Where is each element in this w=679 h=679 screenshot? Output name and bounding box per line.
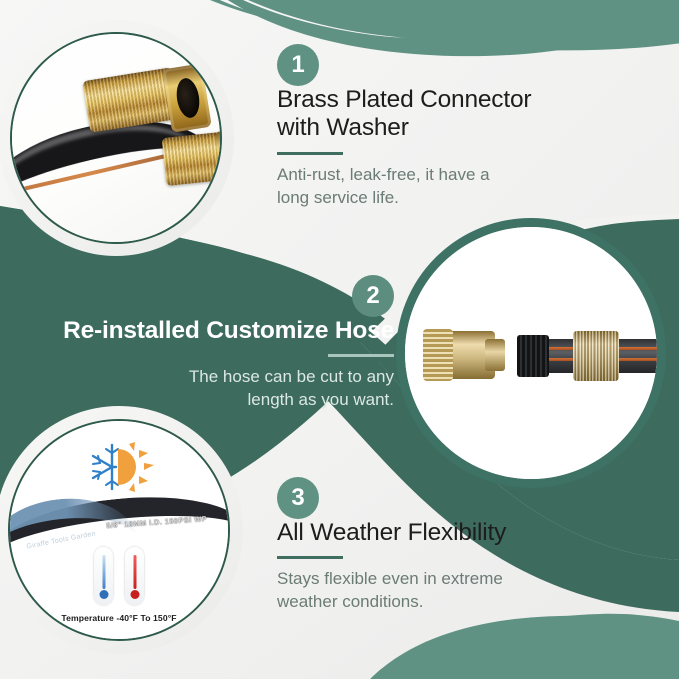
- fitting-nose: [485, 339, 505, 371]
- feature-block-1: 1 Brass Plated Connector with Washer Ant…: [277, 44, 607, 210]
- feature-desc-3: Stays flexible even in extreme weather c…: [277, 568, 607, 614]
- feature-block-2: 2 Re-installed Customize Hose The hose c…: [42, 275, 394, 412]
- feature-desc-2-line-1: The hose can be cut to any: [42, 366, 394, 389]
- thermometer-cold-icon: [94, 547, 113, 605]
- feature-photo-2: [396, 218, 666, 488]
- feature-title-3-line-1: All Weather Flexibility: [277, 519, 607, 547]
- feature-rule-3: [277, 556, 343, 559]
- feature-desc-2: The hose can be cut to any length as you…: [42, 366, 394, 412]
- feature-desc-1: Anti-rust, leak-free, it have a long ser…: [277, 164, 607, 210]
- feature-rule-1: [277, 152, 343, 155]
- feature-badge-2: 2: [352, 275, 394, 317]
- feature-title-1: Brass Plated Connector with Washer: [277, 86, 607, 143]
- feature-block-3: 3 All Weather Flexibility Stays flexible…: [277, 477, 607, 614]
- feature-rule-2: [328, 354, 394, 357]
- sun-icon: [118, 442, 154, 492]
- feature-desc-2-line-2: length as you want.: [42, 389, 394, 412]
- feature-desc-1-line-2: long service life.: [277, 187, 607, 210]
- feature-photo-1: [10, 32, 222, 244]
- all-weather-icon: [82, 441, 156, 493]
- thermometer-group: [73, 547, 165, 609]
- fitting-threads: [423, 329, 453, 381]
- feature-title-2: Re-installed Customize Hose: [42, 317, 394, 345]
- feature-desc-3-line-2: weather conditions.: [277, 591, 607, 614]
- infographic-canvas: 5/8" 18MM I.D. 150PSI WP Giraffe Tools G…: [0, 0, 679, 679]
- snowflake-icon: [93, 445, 118, 489]
- brass-collar-nut: [573, 331, 619, 381]
- feature-badge-3: 3: [277, 477, 319, 519]
- feature-title-2-line-1: Re-installed Customize Hose: [42, 317, 394, 345]
- feature-photo-3: 5/8" 18MM I.D. 150PSI WP Giraffe Tools G…: [8, 419, 230, 641]
- feature-title-1-line-1: Brass Plated Connector: [277, 86, 607, 114]
- feature-badge-1: 1: [277, 44, 319, 86]
- feature-title-3: All Weather Flexibility: [277, 519, 607, 547]
- temperature-range-label: Temperature -40°F To 150°F: [10, 613, 228, 623]
- feature-desc-1-line-1: Anti-rust, leak-free, it have a: [277, 164, 607, 187]
- feature-desc-3-line-1: Stays flexible even in extreme: [277, 568, 607, 591]
- brass-male-connector-icon: [162, 130, 222, 186]
- feature-title-1-line-2: with Washer: [277, 114, 607, 142]
- thermometer-hot-icon: [125, 547, 144, 605]
- black-clamp-collar: [517, 335, 549, 377]
